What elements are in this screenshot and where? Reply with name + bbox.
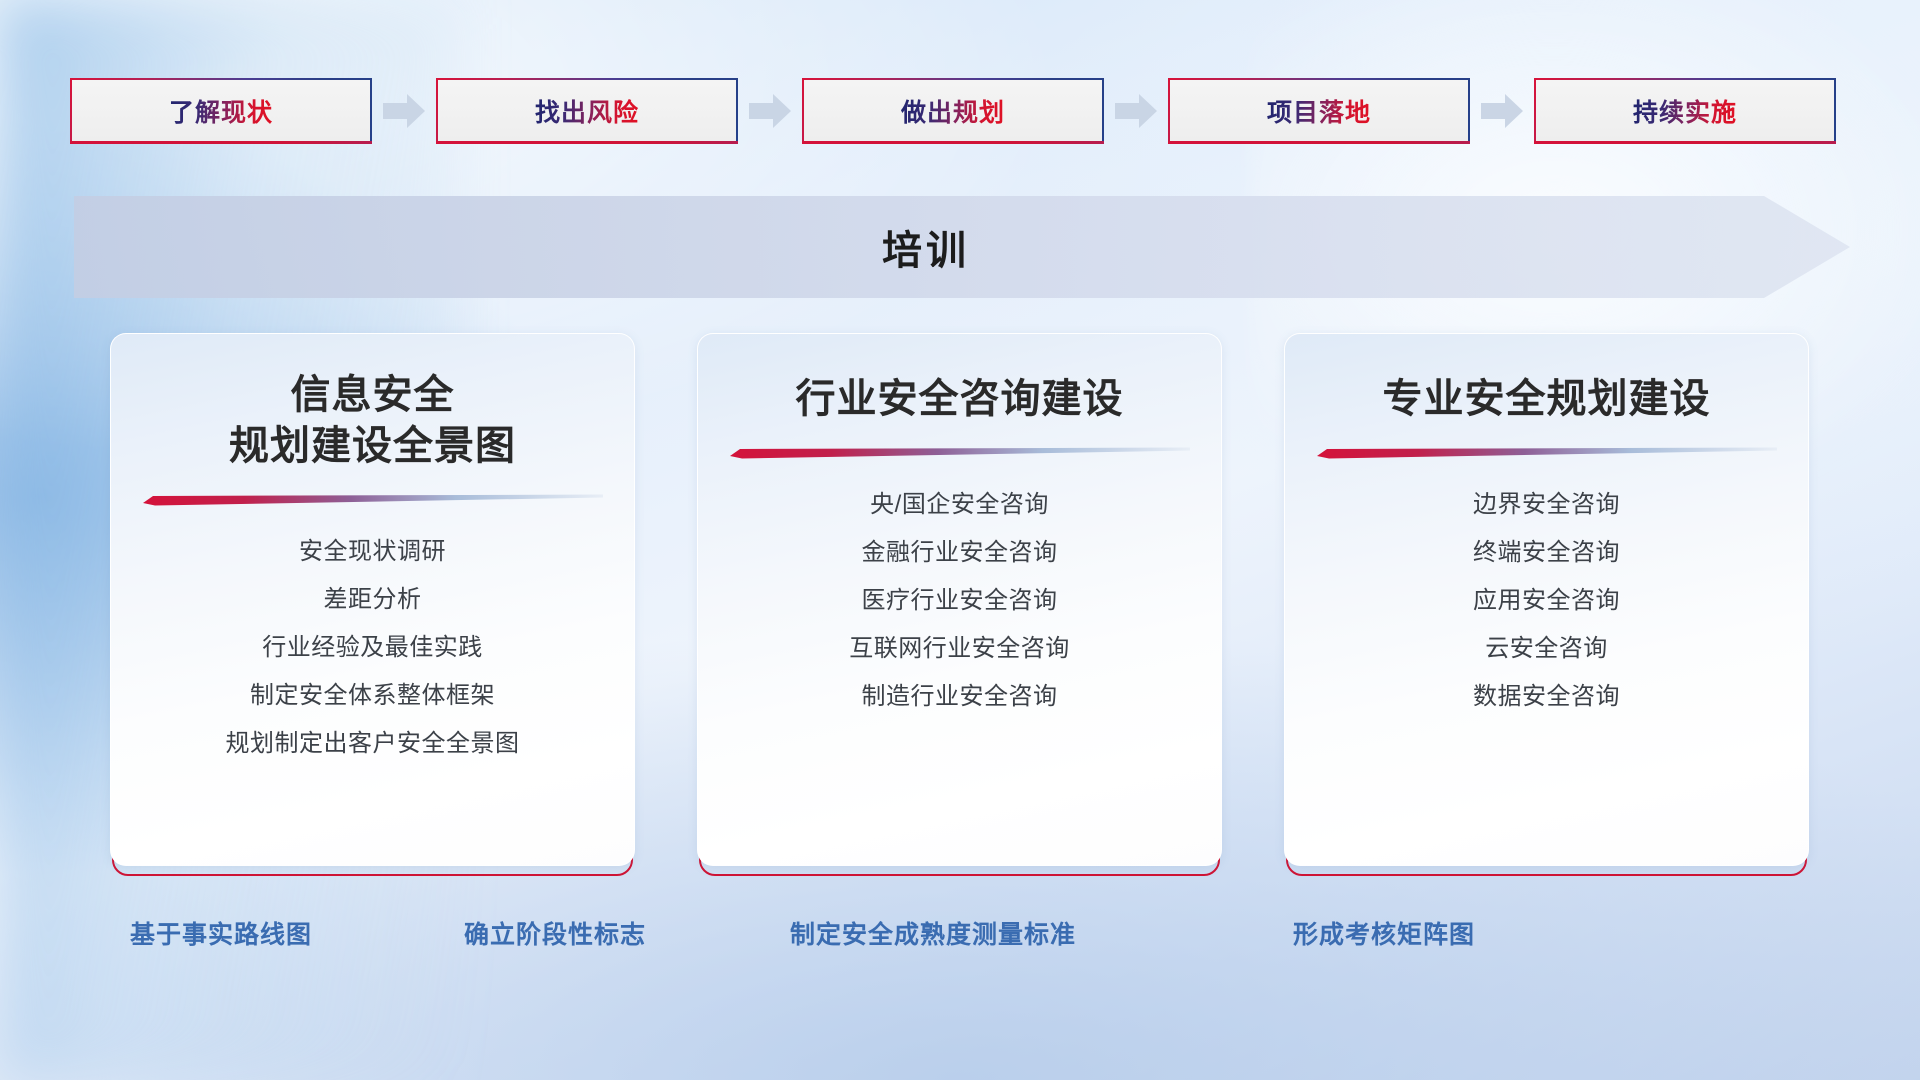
process-step-2[interactable]: 找出风险 <box>436 78 738 144</box>
card-list-item: 云安全咨询 <box>1285 625 1808 673</box>
card-slot-3: 专业安全规划建设边界安全咨询终端安全咨询应用安全咨询云安全咨询数据安全咨询 <box>1284 333 1809 876</box>
card-list-item: 边界安全咨询 <box>1285 481 1808 529</box>
process-step-4[interactable]: 项目落地 <box>1168 78 1470 144</box>
process-step-5[interactable]: 持续实施 <box>1534 78 1836 144</box>
card-slot-1: 信息安全 规划建设全景图安全现状调研差距分析行业经验及最佳实践制定安全体系整体框… <box>110 333 635 876</box>
card-list-item: 行业经验及最佳实践 <box>111 624 634 672</box>
card-list-item: 医疗行业安全咨询 <box>698 577 1221 625</box>
card-row: 信息安全 规划建设全景图安全现状调研差距分析行业经验及最佳实践制定安全体系整体框… <box>110 333 1810 876</box>
service-card-2[interactable]: 行业安全咨询建设央/国企安全咨询金融行业安全咨询医疗行业安全咨询互联网行业安全咨… <box>697 333 1222 866</box>
card-list-item: 制造行业安全咨询 <box>698 673 1221 721</box>
process-step-label: 了解现状 <box>169 93 273 129</box>
card-divider <box>143 494 603 506</box>
card-slot-2: 行业安全咨询建设央/国企安全咨询金融行业安全咨询医疗行业安全咨询互联网行业安全咨… <box>697 333 1222 876</box>
card-title: 专业安全规划建设 <box>1383 374 1711 425</box>
process-step-1[interactable]: 了解现状 <box>70 78 372 144</box>
card-divider <box>730 447 1190 459</box>
process-step-label: 持续实施 <box>1633 93 1737 129</box>
step-arrow-icon <box>738 78 802 144</box>
service-card-1[interactable]: 信息安全 规划建设全景图安全现状调研差距分析行业经验及最佳实践制定安全体系整体框… <box>110 333 635 866</box>
caption-1: 基于事实路线图 <box>130 915 312 951</box>
card-list-item: 互联网行业安全咨询 <box>698 625 1221 673</box>
card-list-item: 应用安全咨询 <box>1285 577 1808 625</box>
card-item-list: 央/国企安全咨询金融行业安全咨询医疗行业安全咨询互联网行业安全咨询制造行业安全咨… <box>698 481 1221 721</box>
card-list-item: 规划制定出客户安全全景图 <box>111 720 634 768</box>
card-list-item: 安全现状调研 <box>111 528 634 576</box>
training-band-label: 培训 <box>74 196 1850 298</box>
card-list-item: 制定安全体系整体框架 <box>111 672 634 720</box>
caption-row: 基于事实路线图确立阶段性标志制定安全成熟度测量标准形成考核矩阵图 <box>0 915 1920 959</box>
card-list-item: 数据安全咨询 <box>1285 673 1808 721</box>
process-step-row: 了解现状找出风险做出规划项目落地持续实施 <box>70 77 1850 145</box>
card-title: 信息安全 规划建设全景图 <box>229 370 516 472</box>
card-divider <box>1317 447 1777 459</box>
caption-2: 确立阶段性标志 <box>464 915 646 951</box>
card-list-item: 差距分析 <box>111 576 634 624</box>
card-item-list: 边界安全咨询终端安全咨询应用安全咨询云安全咨询数据安全咨询 <box>1285 481 1808 721</box>
card-list-item: 终端安全咨询 <box>1285 529 1808 577</box>
process-step-3[interactable]: 做出规划 <box>802 78 1104 144</box>
step-arrow-icon <box>1470 78 1534 144</box>
card-list-item: 金融行业安全咨询 <box>698 529 1221 577</box>
step-arrow-icon <box>372 78 436 144</box>
service-card-3[interactable]: 专业安全规划建设边界安全咨询终端安全咨询应用安全咨询云安全咨询数据安全咨询 <box>1284 333 1809 866</box>
process-step-label: 做出规划 <box>901 93 1005 129</box>
card-title: 行业安全咨询建设 <box>796 374 1124 425</box>
caption-4: 形成考核矩阵图 <box>1293 915 1475 951</box>
step-arrow-icon <box>1104 78 1168 144</box>
training-band: 培训 <box>74 196 1850 298</box>
caption-3: 制定安全成熟度测量标准 <box>790 915 1076 951</box>
process-step-label: 项目落地 <box>1267 93 1371 129</box>
card-list-item: 央/国企安全咨询 <box>698 481 1221 529</box>
card-item-list: 安全现状调研差距分析行业经验及最佳实践制定安全体系整体框架规划制定出客户安全全景… <box>111 528 634 768</box>
process-step-label: 找出风险 <box>535 93 639 129</box>
